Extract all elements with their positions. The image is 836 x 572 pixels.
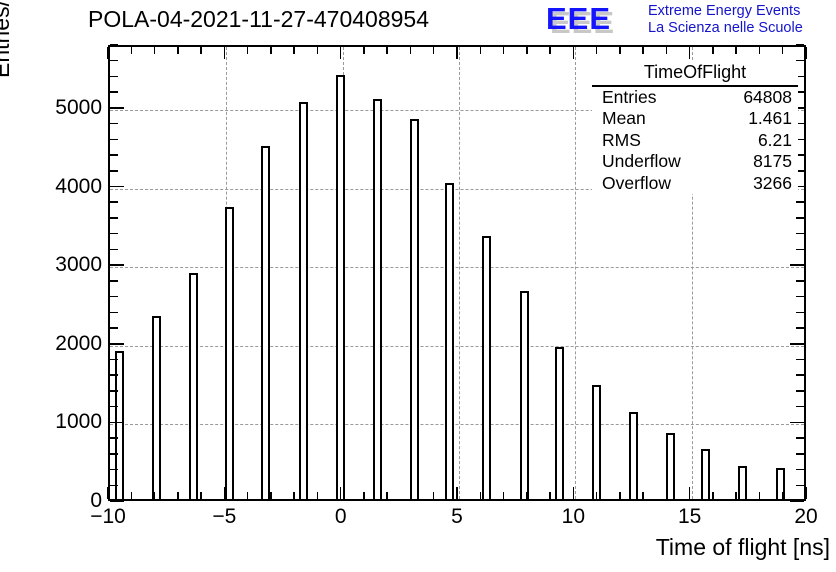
- stats-row-key: Mean: [602, 108, 646, 130]
- x-axis-minor-tick-top: [782, 47, 784, 54]
- x-axis-minor-tick-top: [177, 47, 179, 54]
- y-axis-minor-tick-right: [796, 327, 804, 329]
- x-axis-minor-tick: [410, 492, 412, 499]
- x-axis-minor-tick: [526, 492, 528, 499]
- y-axis-tick-label: 3000: [20, 253, 102, 277]
- y-axis-minor-tick: [110, 453, 118, 455]
- x-axis-tick-label: 15: [678, 505, 701, 529]
- gridline-h: [110, 267, 804, 268]
- x-axis-minor-tick-top: [293, 47, 295, 54]
- x-axis-minor-tick: [480, 492, 482, 499]
- x-axis-minor-tick: [433, 492, 435, 499]
- x-axis-minor-tick: [293, 492, 295, 499]
- y-axis-minor-tick: [110, 312, 118, 314]
- histogram-bar: [555, 347, 564, 499]
- gridline-h: [110, 346, 804, 347]
- x-axis-major-tick-top: [573, 47, 575, 59]
- y-axis-minor-tick: [110, 469, 118, 471]
- x-axis-tick-label: 0: [335, 505, 347, 529]
- y-axis-major-tick-right: [790, 500, 804, 502]
- x-axis-minor-tick: [200, 492, 202, 499]
- eee-logo-line1: Extreme Energy Events: [648, 3, 803, 20]
- x-axis-tick-label: −5: [212, 505, 236, 529]
- eee-logo: EEE Extreme Energy Events La Scienza nel…: [546, 2, 836, 38]
- histogram-bar: [738, 466, 747, 499]
- stats-row-key: Entries: [602, 87, 656, 109]
- x-axis-minor-tick-top: [503, 47, 505, 54]
- y-axis-minor-tick: [110, 170, 118, 172]
- x-axis-minor-tick-top: [526, 47, 528, 54]
- x-axis-minor-tick-top: [247, 47, 249, 54]
- x-axis-minor-tick-top: [759, 47, 761, 54]
- y-axis-major-tick: [110, 500, 124, 502]
- x-axis-major-tick-top: [805, 47, 807, 59]
- histogram-bar: [261, 146, 270, 499]
- y-axis-minor-tick-right: [796, 312, 804, 314]
- x-axis-minor-tick-top: [666, 47, 668, 54]
- y-axis-minor-tick: [110, 76, 118, 78]
- y-axis-minor-tick-right: [796, 217, 804, 219]
- y-axis-minor-tick-right: [796, 437, 804, 439]
- x-axis-minor-tick-top: [433, 47, 435, 54]
- histogram-bar: [482, 236, 491, 499]
- y-axis-tick-label: 1000: [20, 410, 102, 434]
- x-axis-minor-tick: [363, 492, 365, 499]
- y-axis-minor-tick: [110, 60, 118, 62]
- stats-box: TimeOfFlight Entries64808Mean1.461RMS6.2…: [592, 62, 798, 194]
- histogram-bar: [629, 412, 638, 499]
- histogram-bar: [115, 351, 124, 499]
- y-axis-minor-tick-right: [796, 44, 804, 46]
- y-axis-major-tick: [110, 422, 124, 424]
- stats-row-key: RMS: [602, 130, 641, 152]
- page-title: POLA-04-2021-11-27-470408954: [88, 6, 429, 33]
- histogram-bar: [189, 273, 198, 499]
- x-axis-minor-tick-top: [131, 47, 133, 54]
- y-axis-minor-tick-right: [796, 453, 804, 455]
- x-axis-minor-tick: [782, 492, 784, 499]
- y-axis-minor-tick: [110, 327, 118, 329]
- y-axis-minor-tick: [110, 154, 118, 156]
- x-axis-minor-tick: [735, 492, 737, 499]
- x-axis-minor-tick-top: [735, 47, 737, 54]
- x-axis-tick-label: 20: [794, 505, 817, 529]
- x-axis-minor-tick: [317, 492, 319, 499]
- y-axis-minor-tick: [110, 406, 118, 408]
- histogram-bar: [701, 449, 710, 499]
- x-axis-minor-tick-top: [386, 47, 388, 54]
- stats-row-value: 6.21: [758, 130, 792, 152]
- y-axis-minor-tick: [110, 280, 118, 282]
- stats-row: Entries64808: [592, 87, 798, 109]
- eee-logo-text: Extreme Energy Events La Scienza nelle S…: [648, 3, 803, 36]
- histogram-bar: [373, 99, 382, 499]
- gridline-v: [459, 47, 460, 499]
- y-axis-minor-tick: [110, 390, 118, 392]
- stats-row: Mean1.461: [592, 108, 798, 130]
- y-axis-major-tick-right: [790, 422, 804, 424]
- y-axis-major-tick: [110, 343, 124, 345]
- x-axis-minor-tick-top: [317, 47, 319, 54]
- y-axis-minor-tick-right: [796, 406, 804, 408]
- stats-row-value: 1.461: [748, 108, 792, 130]
- eee-logo-mark: EEE: [546, 2, 611, 36]
- x-axis-minor-tick: [642, 492, 644, 499]
- stats-row-value: 64808: [743, 87, 792, 109]
- y-axis-minor-tick-right: [796, 296, 804, 298]
- x-axis-minor-tick: [712, 492, 714, 499]
- gridline-h: [110, 424, 804, 425]
- x-axis-minor-tick: [131, 492, 133, 499]
- y-axis-minor-tick: [110, 374, 118, 376]
- root-canvas: POLA-04-2021-11-27-470408954 EEE Extreme…: [0, 0, 836, 572]
- y-axis-minor-tick: [110, 123, 118, 125]
- x-axis-minor-tick-top: [712, 47, 714, 54]
- y-axis-minor-tick: [110, 217, 118, 219]
- x-axis-minor-tick-top: [200, 47, 202, 54]
- y-axis-minor-tick-right: [796, 485, 804, 487]
- x-axis-minor-tick-top: [410, 47, 412, 54]
- stats-row-key: Overflow: [602, 173, 671, 195]
- x-axis-major-tick-top: [689, 47, 691, 59]
- x-axis-minor-tick: [247, 492, 249, 499]
- x-axis-major-tick: [573, 487, 575, 499]
- y-axis-minor-tick-right: [796, 390, 804, 392]
- y-axis-minor-tick-right: [796, 469, 804, 471]
- stats-row: Underflow8175: [592, 151, 798, 173]
- y-axis-minor-tick-right: [796, 233, 804, 235]
- x-axis-minor-tick: [666, 492, 668, 499]
- stats-row-value: 8175: [753, 151, 792, 173]
- y-axis-major-tick: [110, 107, 124, 109]
- y-axis-minor-tick: [110, 437, 118, 439]
- x-axis-major-tick-top: [340, 47, 342, 59]
- y-axis-minor-tick-right: [796, 201, 804, 203]
- y-axis-major-tick: [110, 264, 124, 266]
- x-axis-major-tick: [340, 487, 342, 499]
- y-axis-title: Entries/bin: [0, 0, 15, 78]
- histogram-bar: [592, 385, 601, 499]
- x-axis-minor-tick-top: [270, 47, 272, 54]
- stats-row-key: Underflow: [602, 151, 681, 173]
- histogram-bar: [336, 75, 345, 499]
- y-axis-minor-tick-right: [796, 280, 804, 282]
- eee-logo-line2: La Scienza nelle Scuole: [648, 20, 803, 37]
- x-axis-minor-tick: [177, 492, 179, 499]
- x-axis-minor-tick-top: [596, 47, 598, 54]
- y-axis-minor-tick: [110, 139, 118, 141]
- x-axis-tick-label: 10: [562, 505, 585, 529]
- y-axis-minor-tick: [110, 249, 118, 251]
- x-axis-minor-tick-top: [619, 47, 621, 54]
- x-axis-major-tick: [689, 487, 691, 499]
- y-axis-tick-label: 2000: [20, 332, 102, 356]
- y-axis-minor-tick: [110, 201, 118, 203]
- stats-row: Overflow3266: [592, 173, 798, 195]
- y-axis-minor-tick: [110, 485, 118, 487]
- x-axis-minor-tick: [759, 492, 761, 499]
- x-axis-title: Time of flight [ns]: [656, 534, 830, 561]
- y-axis-tick-label: 5000: [20, 96, 102, 120]
- y-axis-minor-tick-right: [796, 374, 804, 376]
- x-axis-major-tick: [456, 487, 458, 499]
- histogram-bar: [520, 291, 529, 499]
- y-axis-minor-tick-right: [796, 249, 804, 251]
- y-axis-major-tick: [110, 186, 124, 188]
- x-axis-major-tick: [107, 487, 109, 499]
- stats-row: RMS6.21: [592, 130, 798, 152]
- y-axis-minor-tick: [110, 91, 118, 93]
- x-axis-major-tick-top: [456, 47, 458, 59]
- x-axis-minor-tick: [154, 492, 156, 499]
- x-axis-minor-tick: [619, 492, 621, 499]
- stats-title: TimeOfFlight: [592, 62, 798, 87]
- x-axis-tick-label: 5: [451, 505, 463, 529]
- x-axis-minor-tick-top: [154, 47, 156, 54]
- x-axis-major-tick: [805, 487, 807, 499]
- stats-row-value: 3266: [753, 173, 792, 195]
- x-axis-minor-tick: [503, 492, 505, 499]
- y-axis-tick-label: 4000: [20, 175, 102, 199]
- histogram-bar: [299, 102, 308, 499]
- gridline-v: [575, 47, 576, 499]
- histogram-bar: [445, 183, 454, 499]
- histogram-bar: [666, 433, 675, 499]
- x-axis-major-tick: [224, 487, 226, 499]
- histogram-bar: [152, 316, 161, 499]
- x-axis-minor-tick-top: [480, 47, 482, 54]
- x-axis-minor-tick-top: [363, 47, 365, 54]
- stats-rows: Entries64808Mean1.461RMS6.21Underflow817…: [592, 87, 798, 195]
- x-axis-minor-tick: [270, 492, 272, 499]
- x-axis-minor-tick: [596, 492, 598, 499]
- y-axis-major-tick-right: [790, 264, 804, 266]
- y-axis-tick-label: 0: [20, 489, 102, 513]
- y-axis-minor-tick: [110, 296, 118, 298]
- histogram-bar: [410, 119, 419, 499]
- x-axis-minor-tick-top: [549, 47, 551, 54]
- x-axis-minor-tick-top: [642, 47, 644, 54]
- y-axis-minor-tick: [110, 44, 118, 46]
- y-axis-minor-tick: [110, 233, 118, 235]
- y-axis-minor-tick: [110, 359, 118, 361]
- y-axis-minor-tick-right: [796, 359, 804, 361]
- x-axis-major-tick-top: [107, 47, 109, 59]
- x-axis-minor-tick: [549, 492, 551, 499]
- y-axis-major-tick-right: [790, 343, 804, 345]
- x-axis-major-tick-top: [224, 47, 226, 59]
- x-axis-minor-tick: [386, 492, 388, 499]
- histogram-bar: [225, 207, 234, 499]
